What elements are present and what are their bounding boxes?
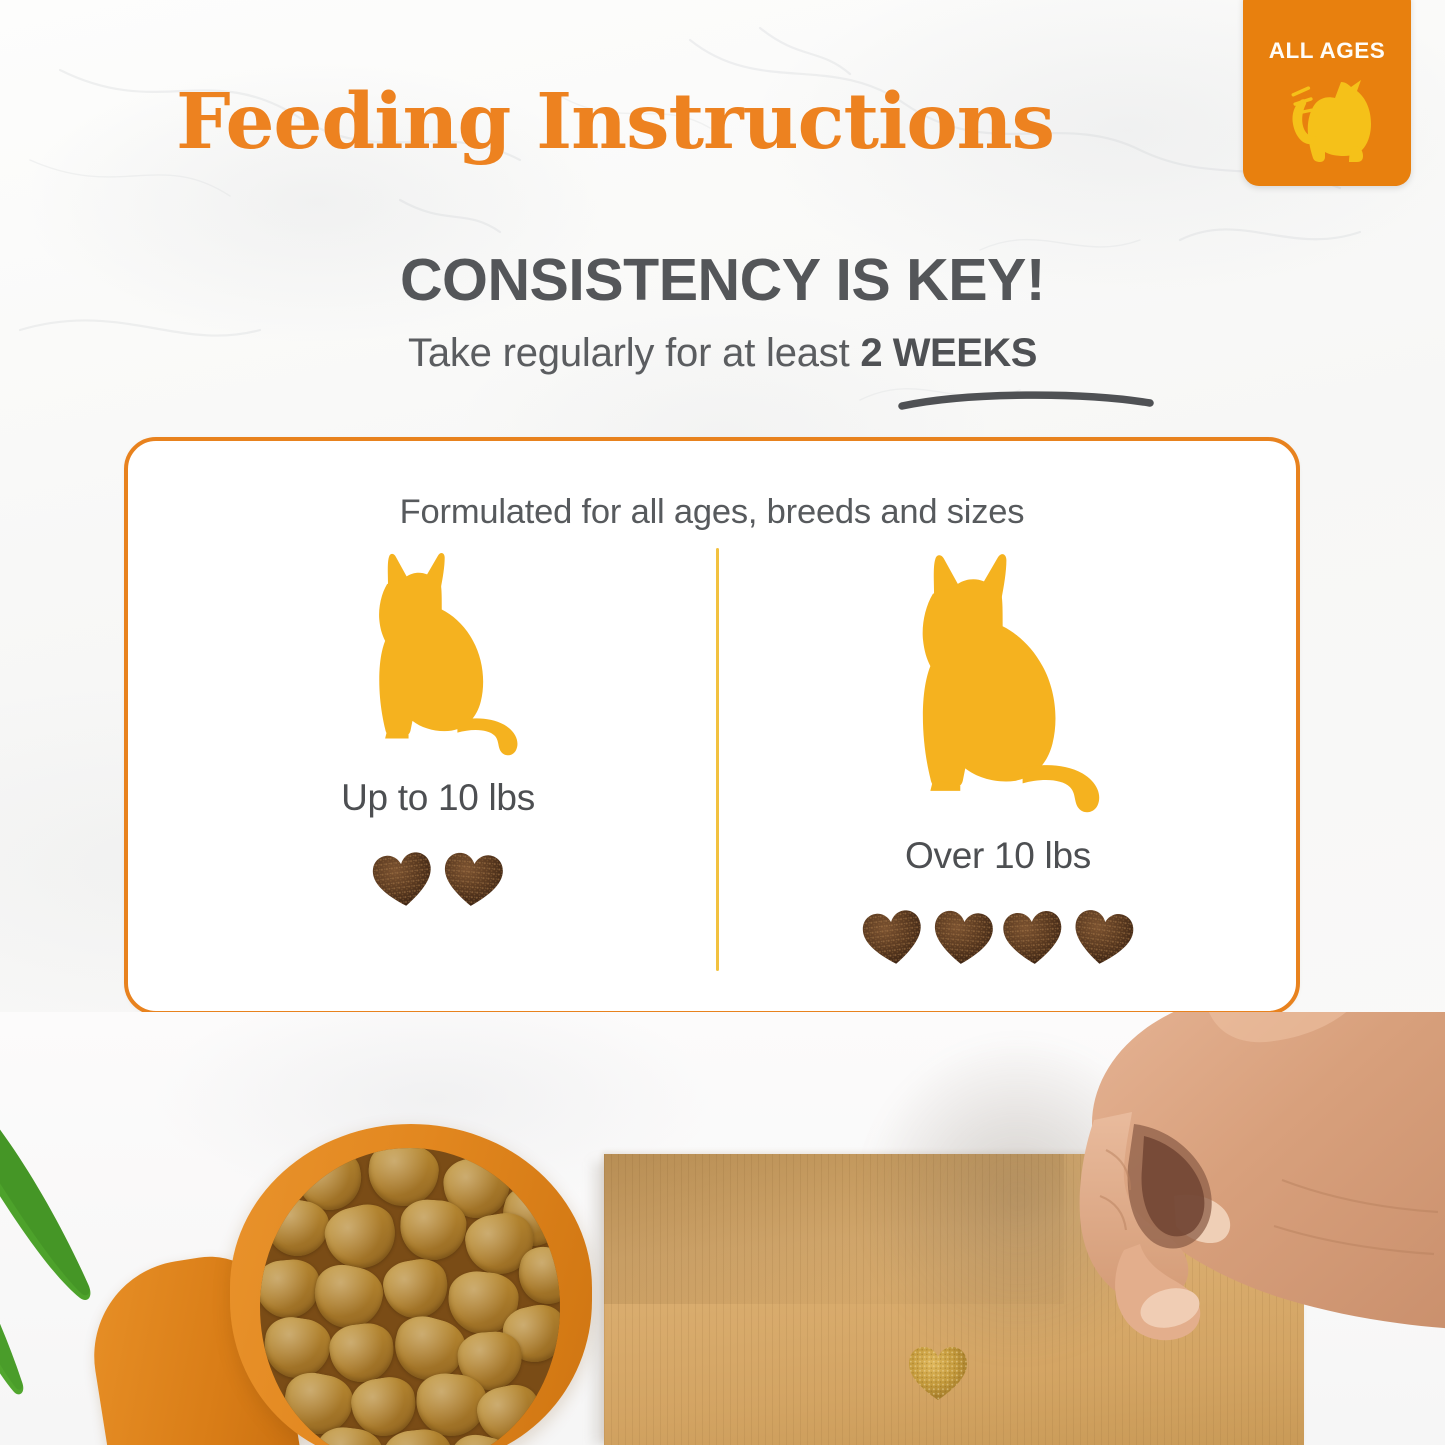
bowl-interior — [260, 1148, 560, 1445]
product-photo-scene — [0, 1012, 1445, 1445]
heart-kibble-icon — [1000, 907, 1066, 969]
page-title: Feeding Instructions — [0, 84, 1230, 161]
feeding-column-small: Up to 10 lbs — [168, 549, 708, 989]
weight-label-large: Over 10 lbs — [728, 835, 1268, 877]
cat-illustration-large — [728, 549, 1268, 817]
heart-kibble-icon — [1068, 905, 1137, 971]
cat-silhouette-large-icon — [883, 549, 1114, 817]
column-divider — [716, 548, 719, 971]
kibble-row-small — [168, 851, 708, 909]
cat-silhouette-icon — [1273, 72, 1383, 164]
heart-kibble-icon — [440, 848, 507, 911]
card-caption: Formulated for all ages, breeds and size… — [128, 493, 1296, 532]
kibble-row-large — [728, 909, 1268, 967]
cat-illustration-small — [168, 549, 708, 759]
cat-silhouette-small-icon — [348, 549, 529, 759]
weight-label-small: Up to 10 lbs — [168, 777, 708, 819]
all-ages-badge: ALL AGES — [1243, 0, 1411, 186]
feeding-chart-card: Formulated for all ages, breeds and size… — [124, 437, 1300, 1015]
tagline-prefix: Take regularly for at least — [408, 331, 860, 375]
tagline-emphasis: 2 WEEKS — [860, 331, 1037, 375]
feeding-column-large: Over 10 lbs — [728, 549, 1268, 989]
tagline: Take regularly for at least 2 WEEKS — [0, 331, 1445, 376]
heart-kibble-icon — [859, 905, 928, 970]
held-kibble-icon — [905, 1342, 971, 1404]
all-ages-badge-label: ALL AGES — [1243, 38, 1411, 64]
heart-kibble-icon — [930, 906, 997, 969]
heart-kibble-icon — [369, 847, 438, 912]
subtitle: CONSISTENCY IS KEY! — [0, 246, 1445, 314]
kibble-bowl — [230, 1124, 592, 1445]
curved-underline-swoosh-icon — [898, 386, 1154, 412]
infographic-root: ALL AGES Feeding Instructions CONSISTENC… — [0, 0, 1445, 1445]
